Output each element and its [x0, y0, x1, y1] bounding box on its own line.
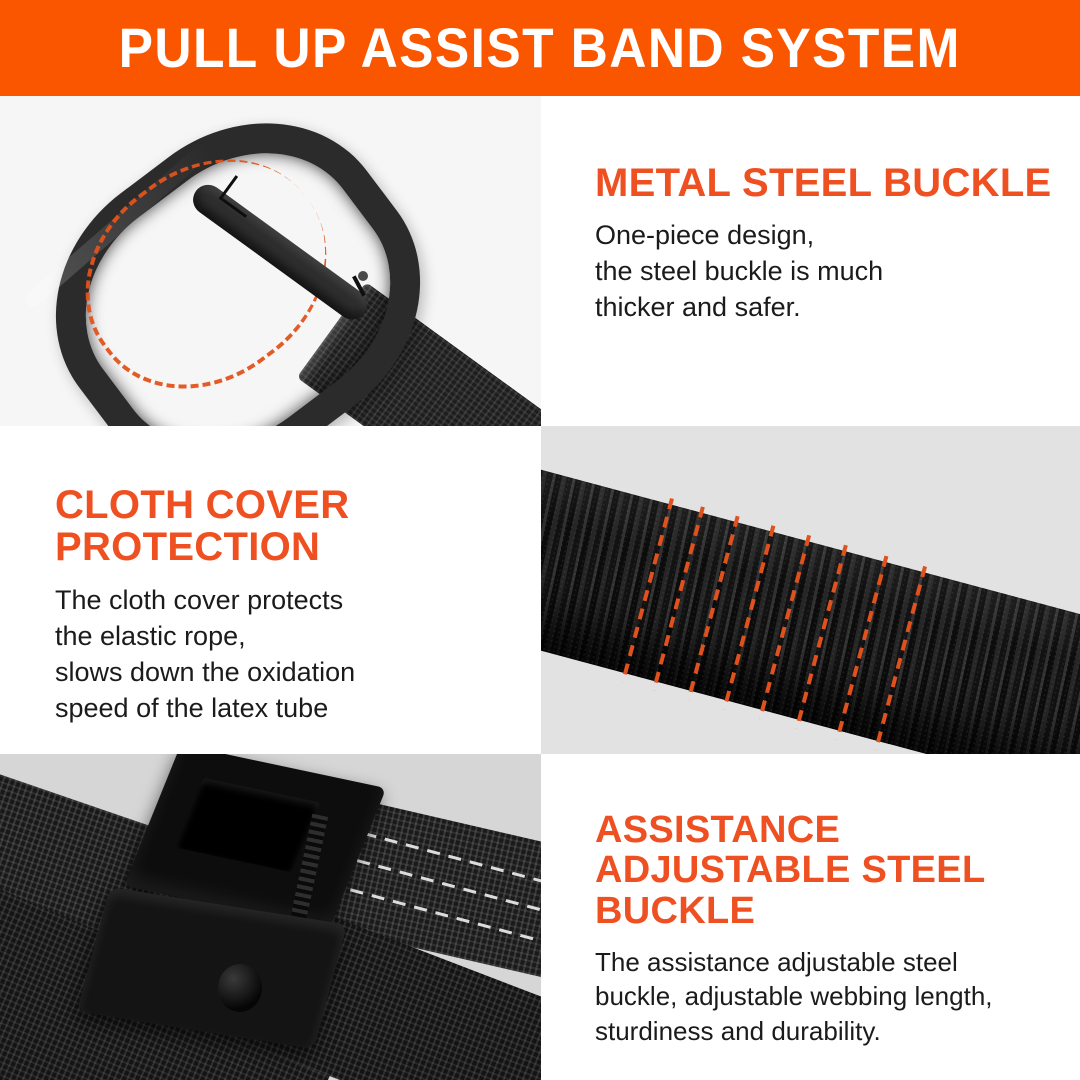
feature-body-2-line-1: The cloth cover protects [55, 583, 521, 619]
feature-body-3-line-3: sturdiness and durability. [595, 1014, 1060, 1049]
carabiner-scene [0, 96, 541, 426]
infographic-page: PULL UP ASSIST BAND SYSTEM METAL STEEL B… [0, 0, 1080, 1080]
photo-cloth-cover-protection [541, 426, 1080, 754]
feature-grid: METAL STEEL BUCKLE One-piece design, the… [0, 96, 1080, 1080]
feature-body-1-line-1: One-piece design, [595, 218, 1060, 254]
feature-heading-1: METAL STEEL BUCKLE [595, 162, 1060, 204]
feature-text-block-3: ASSISTANCE ADJUSTABLE STEEL BUCKLE The a… [595, 810, 1060, 1049]
cloth-covered-band [541, 465, 1080, 754]
band-texture [541, 465, 1080, 754]
text-cloth-cover-protection: CLOTH COVER PROTECTION The cloth cover p… [0, 426, 541, 754]
text-metal-steel-buckle: METAL STEEL BUCKLE One-piece design, the… [541, 96, 1080, 426]
header-banner: PULL UP ASSIST BAND SYSTEM [0, 0, 1080, 96]
feature-body-1-line-3: thicker and safer. [595, 290, 1060, 326]
photo-assistance-adjustable-steel-buckle [0, 754, 541, 1080]
feature-body-2-line-3: slows down the oxidation [55, 655, 521, 691]
cloth-band-scene [541, 426, 1080, 754]
text-assistance-adjustable-steel-buckle: ASSISTANCE ADJUSTABLE STEEL BUCKLE The a… [541, 754, 1080, 1080]
carabiner-pin [358, 271, 368, 281]
carabiner-icon [18, 124, 518, 424]
feature-body-2-line-4: speed of the latex tube [55, 691, 521, 727]
feature-text-block-2: CLOTH COVER PROTECTION The cloth cover p… [55, 484, 521, 726]
cam-buckle-release-button [218, 964, 262, 1012]
photo-metal-steel-buckle [0, 96, 541, 426]
feature-heading-3: ASSISTANCE ADJUSTABLE STEEL BUCKLE [595, 810, 1060, 931]
feature-body-2-line-2: the elastic rope, [55, 619, 521, 655]
feature-body-3-line-2: buckle, adjustable webbing length, [595, 979, 1060, 1014]
feature-text-block-1: METAL STEEL BUCKLE One-piece design, the… [595, 162, 1060, 326]
cam-buckle-scene [0, 754, 541, 1080]
feature-heading-2: CLOTH COVER PROTECTION [55, 484, 521, 569]
page-title: PULL UP ASSIST BAND SYSTEM [119, 20, 961, 76]
feature-body-3-line-1: The assistance adjustable steel [595, 945, 1060, 980]
feature-body-1-line-2: the steel buckle is much [595, 254, 1060, 290]
